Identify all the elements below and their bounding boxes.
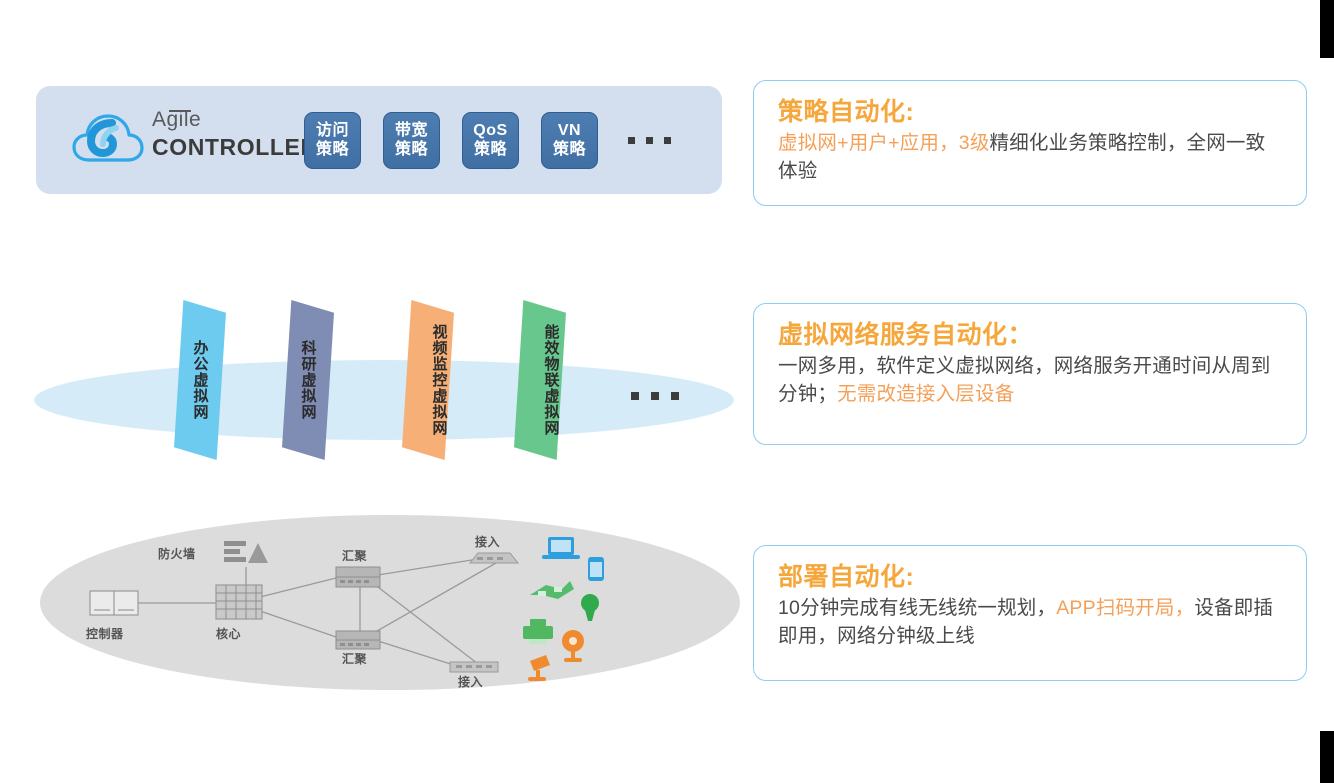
policy-more-ellipsis-icon — [628, 137, 671, 144]
card-title: 部署自动化: — [778, 560, 1284, 594]
card-title: 虚拟网络服务自动化： — [778, 318, 1284, 352]
access-switch-icon-top — [470, 553, 518, 563]
card-highlight-text: 虚拟网+用户+应用，3级 — [778, 132, 990, 154]
topology-label-access-bottom: 接入 — [458, 673, 483, 690]
brand-controller: CONTROLLER — [152, 134, 318, 160]
vn-plane-label: 视频监控虚拟网 — [402, 300, 476, 460]
core-switch-icon — [216, 585, 262, 619]
bulb-icon — [581, 594, 599, 621]
camera-dome-icon — [562, 630, 584, 662]
policy-chip-qos[interactable]: QoS 策略 — [462, 112, 519, 169]
top-right-black-bar — [1320, 0, 1334, 58]
diagram-canvas: Agile CONTROLLER 访问 策略 带宽 策略 QoS 策略 VN 策… — [0, 0, 1334, 783]
card-title: 策略自动化: — [778, 95, 1284, 129]
chip-line1: VN — [558, 121, 581, 140]
card-plain-text: 10分钟完成有线无线统一规划， — [778, 597, 1056, 619]
brand-agile: Agile — [152, 108, 201, 132]
topology-label-core: 核心 — [216, 625, 241, 642]
chip-line2: 策略 — [474, 140, 507, 159]
vn-plane-label: 办公虚拟网 — [174, 300, 226, 460]
policy-chip-bandwidth[interactable]: 带宽 策略 — [383, 112, 440, 169]
vn-plane-research[interactable]: 科研虚拟网 — [282, 300, 334, 460]
network-topology-layer: 控制器 核心 防火墙 汇聚 汇聚 接入 接入 — [30, 515, 740, 695]
topology-links — [138, 559, 496, 667]
topology-label-firewall: 防火墙 — [158, 545, 196, 562]
topology-label-controller: 控制器 — [86, 625, 124, 642]
network-fabric-ellipse — [34, 360, 734, 440]
chip-line2: 策略 — [553, 140, 586, 159]
info-card-virtual-network-automation: 虚拟网络服务自动化： 一网多用，软件定义虚拟网络，网络服务开通时间从周到分钟；无… — [753, 303, 1307, 445]
laptop-icon — [542, 537, 580, 559]
aggregation-switch-icon-top — [336, 567, 380, 587]
camera-bullet-icon — [528, 655, 550, 681]
aggregation-switch-icon-bottom — [336, 631, 380, 649]
policy-chip-row: 访问 策略 带宽 策略 QoS 策略 VN 策略 — [304, 100, 671, 180]
topology-label-aggregation-bottom: 汇聚 — [342, 650, 367, 667]
vn-more-ellipsis-icon — [631, 392, 679, 400]
card-body: 10分钟完成有线无线统一规划，APP扫码开局，设备即插即用，网络分钟级上线 — [778, 594, 1284, 650]
cloud-swirl-icon — [72, 110, 144, 168]
card-highlight-text: APP扫码开局， — [1056, 597, 1194, 619]
chip-line1: 访问 — [316, 121, 349, 140]
chip-line2: 策略 — [316, 140, 349, 159]
topology-label-access-top: 接入 — [475, 533, 500, 550]
policy-chip-vn[interactable]: VN 策略 — [541, 112, 598, 169]
card-highlight-text: 无需改造接入层设备 — [837, 383, 1014, 405]
access-point-icon — [530, 581, 574, 599]
agile-controller-wordmark: Agile CONTROLLER — [152, 108, 318, 160]
vn-plane-office[interactable]: 办公虚拟网 — [174, 300, 226, 460]
card-body: 一网多用，软件定义虚拟网络，网络服务开通时间从周到分钟；无需改造接入层设备 — [778, 352, 1284, 408]
info-card-policy-automation: 策略自动化: 虚拟网+用户+应用，3级精细化业务策略控制，全网一致体验 — [753, 80, 1307, 206]
tablet-icon — [588, 557, 604, 581]
topology-label-aggregation-top: 汇聚 — [342, 547, 367, 564]
vn-plane-label: 能效物联虚拟网 — [514, 300, 588, 460]
agile-controller-band: Agile CONTROLLER 访问 策略 带宽 策略 QoS 策略 VN 策… — [36, 86, 722, 194]
chip-line2: 策略 — [395, 140, 428, 159]
vn-plane-video-surveillance[interactable]: 视频监控虚拟网 — [402, 300, 454, 460]
controller-icon — [90, 591, 138, 615]
policy-chip-access[interactable]: 访问 策略 — [304, 112, 361, 169]
vn-plane-label: 科研虚拟网 — [282, 300, 334, 460]
agile-controller-logo: Agile CONTROLLER — [72, 102, 322, 178]
chip-line1: 带宽 — [395, 121, 428, 140]
vn-plane-energy-iot[interactable]: 能效物联虚拟网 — [514, 300, 566, 460]
chip-line1: QoS — [473, 121, 507, 140]
bottom-right-black-bar — [1320, 731, 1334, 783]
topology-graphics — [30, 515, 740, 695]
firewall-icon — [224, 541, 268, 563]
info-card-deployment-automation: 部署自动化: 10分钟完成有线无线统一规划，APP扫码开局，设备即插即用，网络分… — [753, 545, 1307, 681]
virtual-network-layer: 办公虚拟网 科研虚拟网 视频监控虚拟网 能效物联虚拟网 — [24, 300, 730, 500]
printer-icon — [523, 619, 553, 644]
card-body: 虚拟网+用户+应用，3级精细化业务策略控制，全网一致体验 — [778, 129, 1284, 185]
access-switch-icon-bottom — [450, 662, 498, 672]
